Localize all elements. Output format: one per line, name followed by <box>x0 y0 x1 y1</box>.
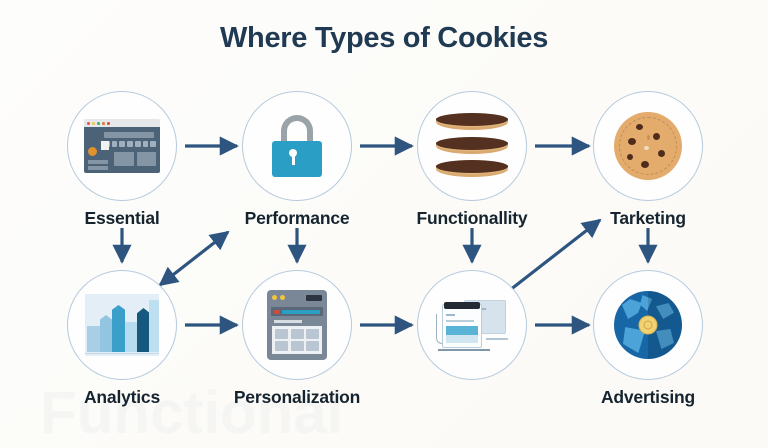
node-unlabeled[interactable] <box>397 270 547 387</box>
node-performance[interactable]: Performance <box>222 91 372 229</box>
bar-chart-icon <box>85 294 159 356</box>
node-analytics-label: Analytics <box>47 387 197 408</box>
page-title: Where Types of Cookies <box>0 22 768 55</box>
node-analytics-circle <box>67 270 177 380</box>
node-personalization-circle <box>242 270 352 380</box>
padlock-icon <box>268 115 326 177</box>
node-performance-label: Performance <box>222 208 372 229</box>
control-panel-icon <box>267 290 327 360</box>
node-advertising-label: Advertising <box>573 387 723 408</box>
cookie-stack-icon <box>436 113 508 179</box>
node-advertising-circle <box>593 270 703 380</box>
node-essential[interactable]: Essential <box>47 91 197 229</box>
chocolate-chip-cookie-icon <box>614 112 682 180</box>
node-functionallity-label: Functionallity <box>397 208 547 229</box>
node-advertising[interactable]: Advertising <box>573 270 723 408</box>
infographic-canvas: Functional Where Types of Cookies <box>0 0 768 448</box>
browser-window-icon <box>84 119 160 173</box>
node-essential-label: Essential <box>47 208 197 229</box>
node-functionallity-circle <box>417 91 527 201</box>
node-personalization-label: Personalization <box>222 387 372 408</box>
node-functionallity[interactable]: Functionallity <box>397 91 547 229</box>
node-tarketing-circle <box>593 91 703 201</box>
node-personalization[interactable]: Personalization <box>222 270 372 408</box>
monitor-screen-icon <box>434 294 510 356</box>
globe-coin-icon <box>614 291 682 359</box>
node-tarketing-label: Tarketing <box>573 208 723 229</box>
node-tarketing[interactable]: Tarketing <box>573 91 723 229</box>
node-unlabeled-circle <box>417 270 527 380</box>
node-analytics[interactable]: Analytics <box>47 270 197 408</box>
node-essential-circle <box>67 91 177 201</box>
node-performance-circle <box>242 91 352 201</box>
